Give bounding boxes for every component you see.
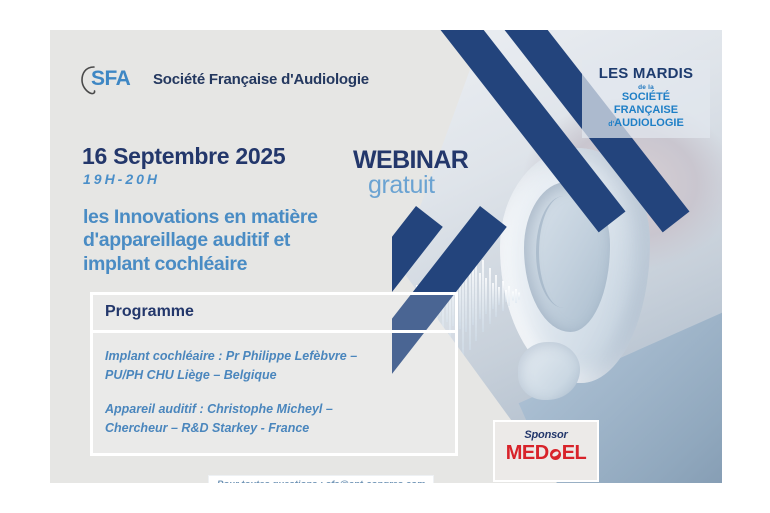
programme-box: Programme Implant cochléaire : Pr Philip… [90, 292, 458, 456]
event-time: 19H-20H [83, 171, 160, 187]
programme-list: Implant cochléaire : Pr Philippe Lefèbvr… [93, 333, 455, 453]
event-date: 16 Septembre 2025 [82, 143, 285, 170]
badge-audiologie-word: AUDIOLOGIE [614, 117, 684, 129]
badge-line-francaise: FRANÇAISE [586, 104, 706, 117]
event-title-line-3: implant cochléaire [83, 253, 413, 276]
sfa-ear-logo-icon: SFA [78, 64, 146, 94]
programme-item-line-1: Implant cochléaire : Pr Philippe Lefèbvr… [105, 347, 443, 366]
les-mardis-badge: LES MARDIS de la SOCIÉTÉ FRANÇAISE d'AUD… [582, 60, 710, 138]
poster-content: SFA Société Française d'Audiologie 16 Se… [50, 30, 470, 483]
sponsor-label: Sponsor [495, 429, 597, 441]
event-title-line-2: d'appareillage auditif et [83, 229, 413, 252]
badge-line-audiologie: d'AUDIOLOGIE [586, 117, 706, 130]
contact-email-note[interactable]: Pour toutes questions : sfa@ant-congres.… [208, 475, 434, 483]
medel-swirl-icon [550, 449, 561, 460]
badge-line-dela: de la [586, 84, 706, 91]
sfa-acronym: SFA [91, 67, 130, 91]
programme-item-line-2: PU/PH CHU Liège – Belgique [105, 366, 443, 385]
programme-item: Appareil auditif : Christophe Micheyl – … [105, 400, 443, 439]
programme-heading: Programme [93, 295, 455, 333]
programme-item: Implant cochléaire : Pr Philippe Lefèbvr… [105, 347, 443, 386]
event-title: les Innovations en matière d'appareillag… [83, 206, 413, 276]
medel-name-part2: EL [562, 442, 587, 465]
webinar-poster: LES MARDIS de la SOCIÉTÉ FRANÇAISE d'AUD… [50, 30, 722, 483]
gratuit-label: gratuit [368, 171, 435, 200]
medel-name-part1: MED [506, 442, 549, 465]
programme-item-line-1: Appareil auditif : Christophe Micheyl – [105, 400, 443, 419]
sfa-brand-lockup: SFA Société Française d'Audiologie [78, 64, 369, 94]
medel-logo: MED EL [495, 442, 597, 465]
sfa-full-name: Société Française d'Audiologie [153, 71, 369, 88]
sponsor-box: Sponsor MED EL [493, 420, 599, 482]
event-title-line-1: les Innovations en matière [83, 206, 413, 229]
badge-line-mardis: LES MARDIS [586, 66, 706, 83]
badge-line-societe: SOCIÉTÉ [586, 91, 706, 104]
programme-item-line-2: Chercheur – R&D Starkey - France [105, 419, 443, 438]
